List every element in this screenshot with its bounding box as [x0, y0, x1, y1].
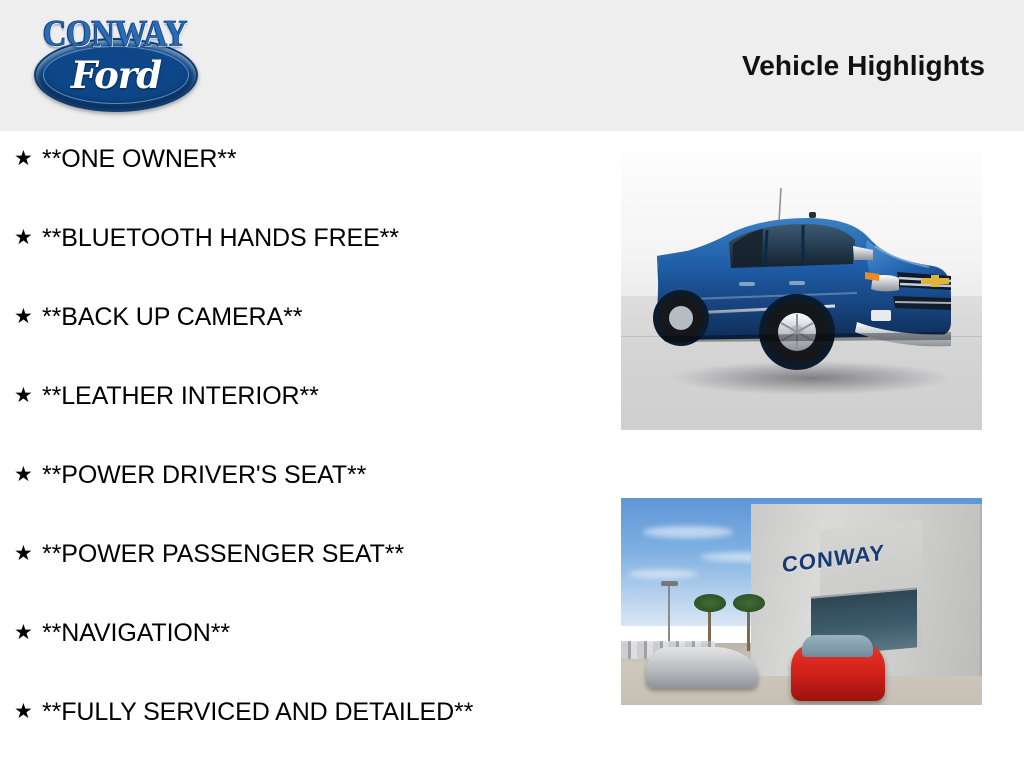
dealership-photo[interactable]: CONWAY	[621, 498, 982, 705]
highlight-label: **POWER DRIVER'S SEAT**	[42, 458, 610, 492]
star-icon: ★	[14, 616, 42, 650]
star-icon: ★	[14, 300, 42, 334]
highlight-label: **FULLY SERVICED AND DETAILED**	[42, 695, 610, 729]
pickup-truck-illustration	[621, 150, 982, 430]
light-pole	[668, 585, 670, 647]
vehicle-photo[interactable]	[621, 150, 982, 430]
star-icon: ★	[14, 142, 42, 176]
list-item: ★ **BLUETOOTH HANDS FREE**	[0, 221, 610, 300]
page-header: CONWAY Ford Vehicle Highlights	[0, 0, 1024, 131]
vehicle-highlights-list: ★ **ONE OWNER** ★ **BLUETOOTH HANDS FREE…	[0, 142, 610, 774]
highlight-label: **BACK UP CAMERA**	[42, 300, 610, 334]
cloud	[643, 526, 733, 538]
list-item: ★ **POWER DRIVER'S SEAT**	[0, 458, 610, 537]
highlight-label: **POWER PASSENGER SEAT**	[42, 537, 610, 571]
page-title: Vehicle Highlights	[742, 50, 985, 82]
silver-car	[646, 647, 758, 688]
dealer-logo[interactable]: CONWAY Ford	[22, 12, 208, 116]
star-icon: ★	[14, 458, 42, 492]
star-icon: ★	[14, 379, 42, 413]
highlight-label: **NAVIGATION**	[42, 616, 610, 650]
star-icon: ★	[14, 221, 42, 255]
logo-wordmark-conway: CONWAY	[22, 12, 208, 61]
star-icon: ★	[14, 695, 42, 729]
cloud	[628, 570, 698, 578]
list-item: ★ **LEATHER INTERIOR**	[0, 379, 610, 458]
list-item: ★ **POWER PASSENGER SEAT**	[0, 537, 610, 616]
highlight-label: **LEATHER INTERIOR**	[42, 379, 610, 413]
list-item: ★ **FULLY SERVICED AND DETAILED**	[0, 695, 610, 774]
highlight-label: **ONE OWNER**	[42, 142, 610, 176]
star-icon: ★	[14, 537, 42, 571]
list-item: ★ **ONE OWNER**	[0, 142, 610, 221]
list-item: ★ **NAVIGATION**	[0, 616, 610, 695]
list-item: ★ **BACK UP CAMERA**	[0, 300, 610, 379]
highlight-label: **BLUETOOTH HANDS FREE**	[42, 221, 610, 255]
red-car	[791, 645, 885, 701]
palm-tree	[747, 606, 750, 652]
